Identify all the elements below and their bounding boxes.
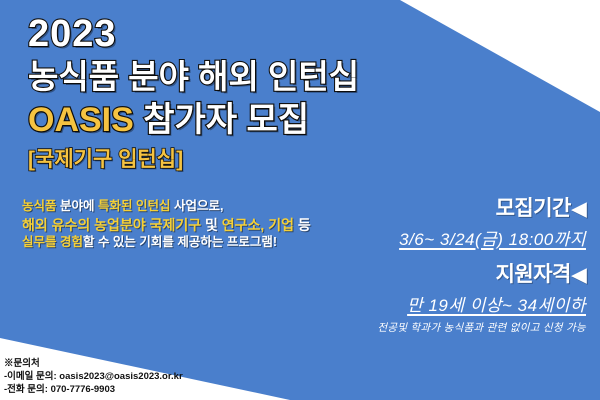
eligibility-value: 만 19세 이상~ 34세이하 <box>377 294 586 317</box>
contact-block: ※문의처 -이메일 문의: oasis2023@oasis2023.or.kr … <box>4 357 183 396</box>
description-line-1-plain-a: 분야에 <box>57 199 98 213</box>
recruitment-period-label: 모집기간 <box>496 197 571 220</box>
left-triangle-icon: ◀ <box>572 199 586 220</box>
contact-email[interactable]: -이메일 문의: oasis2023@oasis2023.or.kr <box>4 370 183 383</box>
eligibility-block: 지원자격◀ 만 19세 이상~ 34세이하 전공및 학과가 농식품과 관련 없이… <box>377 262 586 335</box>
description-line-1-highlight-c: 인턴십 <box>136 199 171 213</box>
description-line-2-plain-a: 및 <box>201 217 222 233</box>
contact-phone[interactable]: -전화 문의: 070-7776-9903 <box>4 383 183 396</box>
headline-line-3-rest: 참가자 모집 <box>134 101 309 139</box>
description-block: 농식품 분야에 특화된 인턴십 사업으로, 해외 유수의 농업분야 국제기구 및… <box>22 198 342 252</box>
description-line-1-highlight-a: 농식품 <box>22 199 57 213</box>
description-line-2-highlight-b: 연구소, 기업 <box>222 217 294 233</box>
headline-line-2: 농식품 분야 해외 인턴십 <box>28 56 359 98</box>
description-line-1-plain-b: 사업으로, <box>170 199 223 213</box>
brand-oasis: OASIS <box>28 101 134 139</box>
eligibility-note: 전공및 학과가 농식품과 관련 없이고 신청 가능 <box>377 321 586 335</box>
description-line-1: 농식품 분야에 특화된 인턴십 사업으로, <box>22 198 342 216</box>
headline-subtitle-bracket: [국제기구 입턴십] <box>28 146 359 174</box>
poster-canvas: 2023 농식품 분야 해외 인턴십 OASIS 참가자 모집 [국제기구 입턴… <box>0 0 600 400</box>
left-triangle-icon: ◀ <box>572 265 586 286</box>
top-right-triangle-decoration <box>400 0 600 112</box>
description-line-2-highlight-a: 해외 유수의 농업분야 국제기구 <box>22 217 201 233</box>
eligibility-label: 지원자격 <box>496 263 571 286</box>
description-line-3: 실무를 경험할 수 있는 기회를 제공하는 프로그램! <box>22 234 342 252</box>
description-line-3-highlight: 실무를 경험 <box>22 235 83 249</box>
description-line-1-highlight-b: 특화된 <box>98 199 133 213</box>
contact-title: ※문의처 <box>4 357 183 370</box>
headline-block: 2023 농식품 분야 해외 인턴십 OASIS 참가자 모집 [국제기구 입턴… <box>28 12 359 174</box>
description-line-2-plain-b: 등 <box>294 217 311 233</box>
headline-line-3: OASIS 참가자 모집 <box>28 98 359 142</box>
recruitment-period-block: 모집기간◀ 3/6~ 3/24(금) 18:00까지 <box>399 196 586 251</box>
description-line-2: 해외 유수의 농업분야 국제기구 및 연구소, 기업 등 <box>22 216 342 235</box>
eligibility-heading: 지원자격◀ <box>377 262 586 289</box>
headline-year: 2023 <box>28 12 359 56</box>
description-line-3-plain: 할 수 있는 기회를 제공하는 프로그램! <box>83 235 277 249</box>
recruitment-period-heading: 모집기간◀ <box>399 196 586 223</box>
recruitment-period-value: 3/6~ 3/24(금) 18:00까지 <box>399 228 586 251</box>
